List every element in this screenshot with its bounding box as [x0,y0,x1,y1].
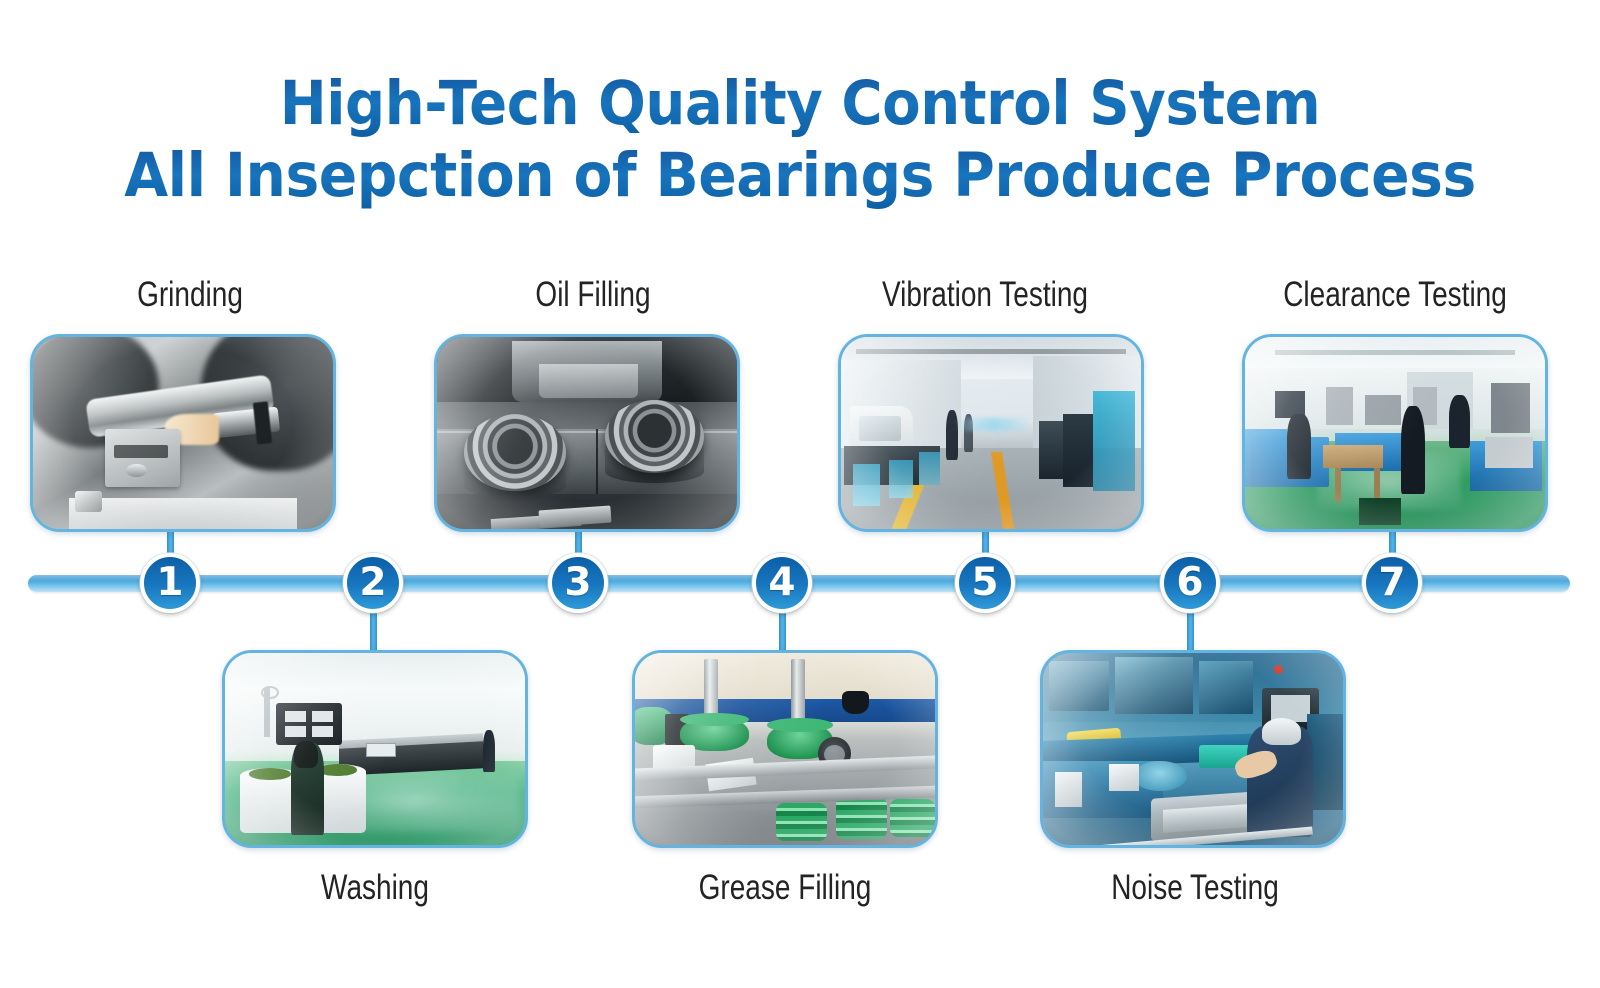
step-marker-5-number: 5 [971,563,998,602]
page-title: High-Tech Quality Control System All Ins… [0,68,1600,212]
step-marker-1-number: 1 [156,563,183,602]
washing-photo[interactable] [222,650,528,848]
caption-step-1: Grinding [22,275,358,315]
step-marker-2-number: 2 [359,563,386,602]
vibration-testing-photo[interactable] [838,334,1144,532]
step-marker-4[interactable]: 4 [752,553,812,613]
step-marker-1[interactable]: 1 [140,553,200,613]
grease-filling-photo[interactable] [632,650,938,848]
clearance-testing-scene [1245,337,1545,529]
caption-step-2: Washing [207,868,543,908]
step-marker-6-number: 6 [1176,563,1203,602]
clearance-testing-photo[interactable] [1242,334,1548,532]
caption-step-4: Grease Filling [617,868,953,908]
vibration-testing-scene [841,337,1141,529]
oil-filling-scene [437,337,737,529]
caption-step-7: Clearance Testing [1227,275,1563,315]
title-line-2: All Insepction of Bearings Produce Proce… [56,140,1544,212]
caption-step-3: Oil Filling [425,275,761,315]
oil-filling-photo[interactable] [434,334,740,532]
step-marker-5[interactable]: 5 [955,553,1015,613]
caption-step-5: Vibration Testing [817,275,1153,315]
grease-filling-scene [635,653,935,845]
infographic-canvas: High-Tech Quality Control System All Ins… [0,0,1600,988]
step-marker-3[interactable]: 3 [548,553,608,613]
grinding-photo[interactable] [30,334,336,532]
step-marker-7[interactable]: 7 [1362,553,1422,613]
noise-testing-scene [1043,653,1343,845]
step-marker-3-number: 3 [564,563,591,602]
step-marker-4-number: 4 [768,563,795,602]
washing-scene [225,653,525,845]
noise-testing-photo[interactable] [1040,650,1346,848]
step-marker-7-number: 7 [1378,563,1405,602]
title-line-1: High-Tech Quality Control System [64,68,1536,140]
caption-step-6: Noise Testing [1027,868,1363,908]
step-marker-2[interactable]: 2 [343,553,403,613]
step-marker-6[interactable]: 6 [1160,553,1220,613]
grinding-scene [33,337,333,529]
